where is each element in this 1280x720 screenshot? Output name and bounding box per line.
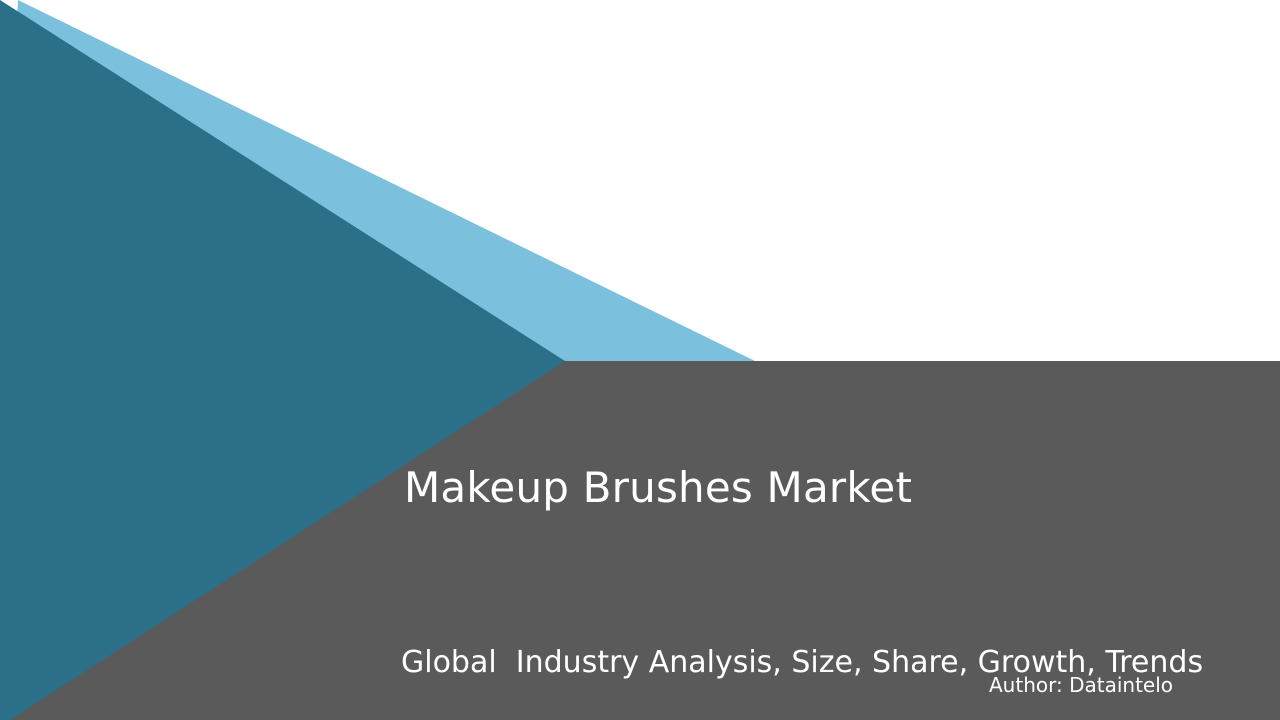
slide-content: Makeup Brushes Market Global Industry An… <box>0 0 1280 720</box>
author-label: Author: Dataintelo <box>989 672 1173 698</box>
page-title: Makeup Brushes Market <box>404 462 912 514</box>
title-slide: Makeup Brushes Market Global Industry An… <box>0 0 1280 720</box>
